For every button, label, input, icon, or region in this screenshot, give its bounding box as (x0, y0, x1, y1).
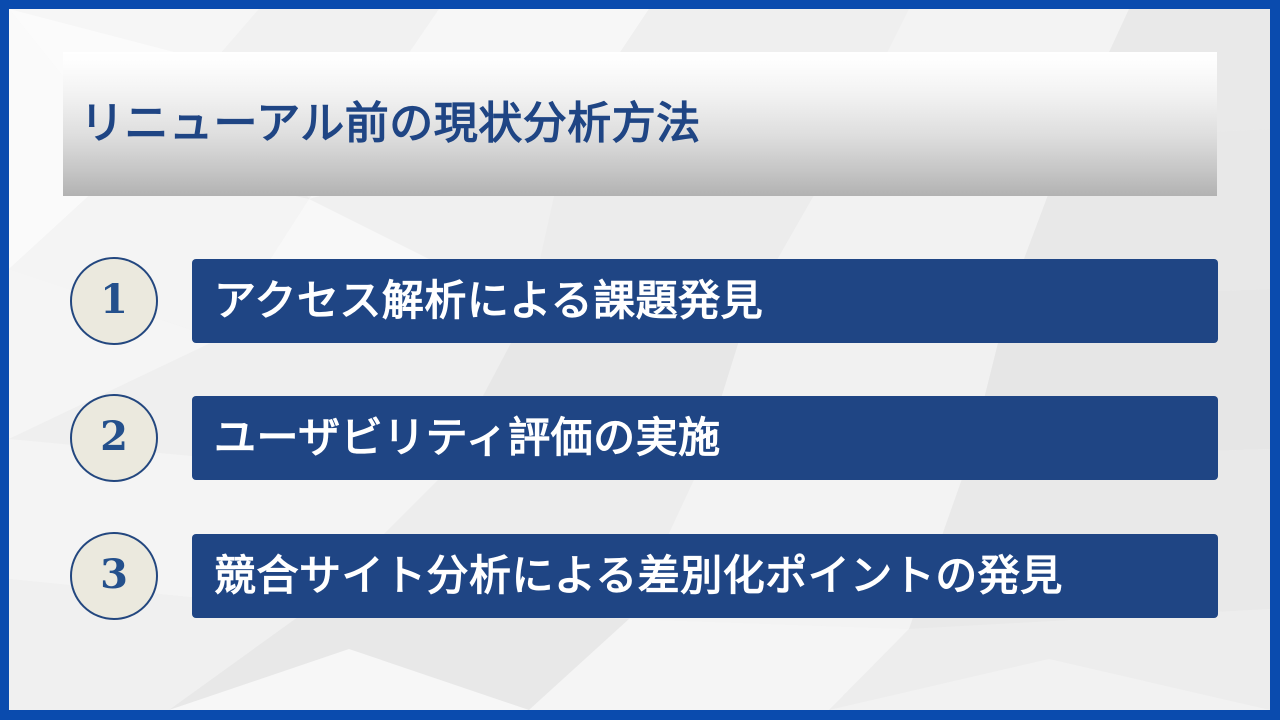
number-badge: 1 (70, 257, 158, 345)
number-badge: 2 (70, 394, 158, 482)
list-item-label: 競合サイト分析による差別化ポイントの発見 (214, 554, 1063, 598)
number-badge-label: 3 (100, 555, 128, 595)
frame-border-top (0, 0, 1280, 9)
list-item[interactable]: 3 競合サイト分析による差別化ポイントの発見 (70, 532, 1218, 620)
frame-border-right (1270, 0, 1280, 720)
frame-border-bottom (0, 710, 1280, 720)
list-item[interactable]: 2 ユーザビリティ評価の実施 (70, 394, 1218, 482)
frame-border-left (0, 0, 9, 720)
list-item-bar[interactable]: ユーザビリティ評価の実施 (192, 396, 1218, 480)
number-badge-label: 2 (100, 417, 128, 457)
number-badge-label: 1 (100, 280, 128, 320)
numbered-list: 1 アクセス解析による課題発見 2 ユーザビリティ評価の実施 3 競合サイト分析… (0, 0, 1280, 720)
list-item-label: アクセス解析による課題発見 (214, 279, 763, 323)
number-badge: 3 (70, 532, 158, 620)
list-item-bar[interactable]: アクセス解析による課題発見 (192, 259, 1218, 343)
list-item-label: ユーザビリティ評価の実施 (214, 416, 721, 460)
list-item-bar[interactable]: 競合サイト分析による差別化ポイントの発見 (192, 534, 1218, 618)
list-item[interactable]: 1 アクセス解析による課題発見 (70, 257, 1218, 345)
slide-canvas: リニューアル前の現状分析方法 1 アクセス解析による課題発見 2 ユーザビリティ… (0, 0, 1280, 720)
